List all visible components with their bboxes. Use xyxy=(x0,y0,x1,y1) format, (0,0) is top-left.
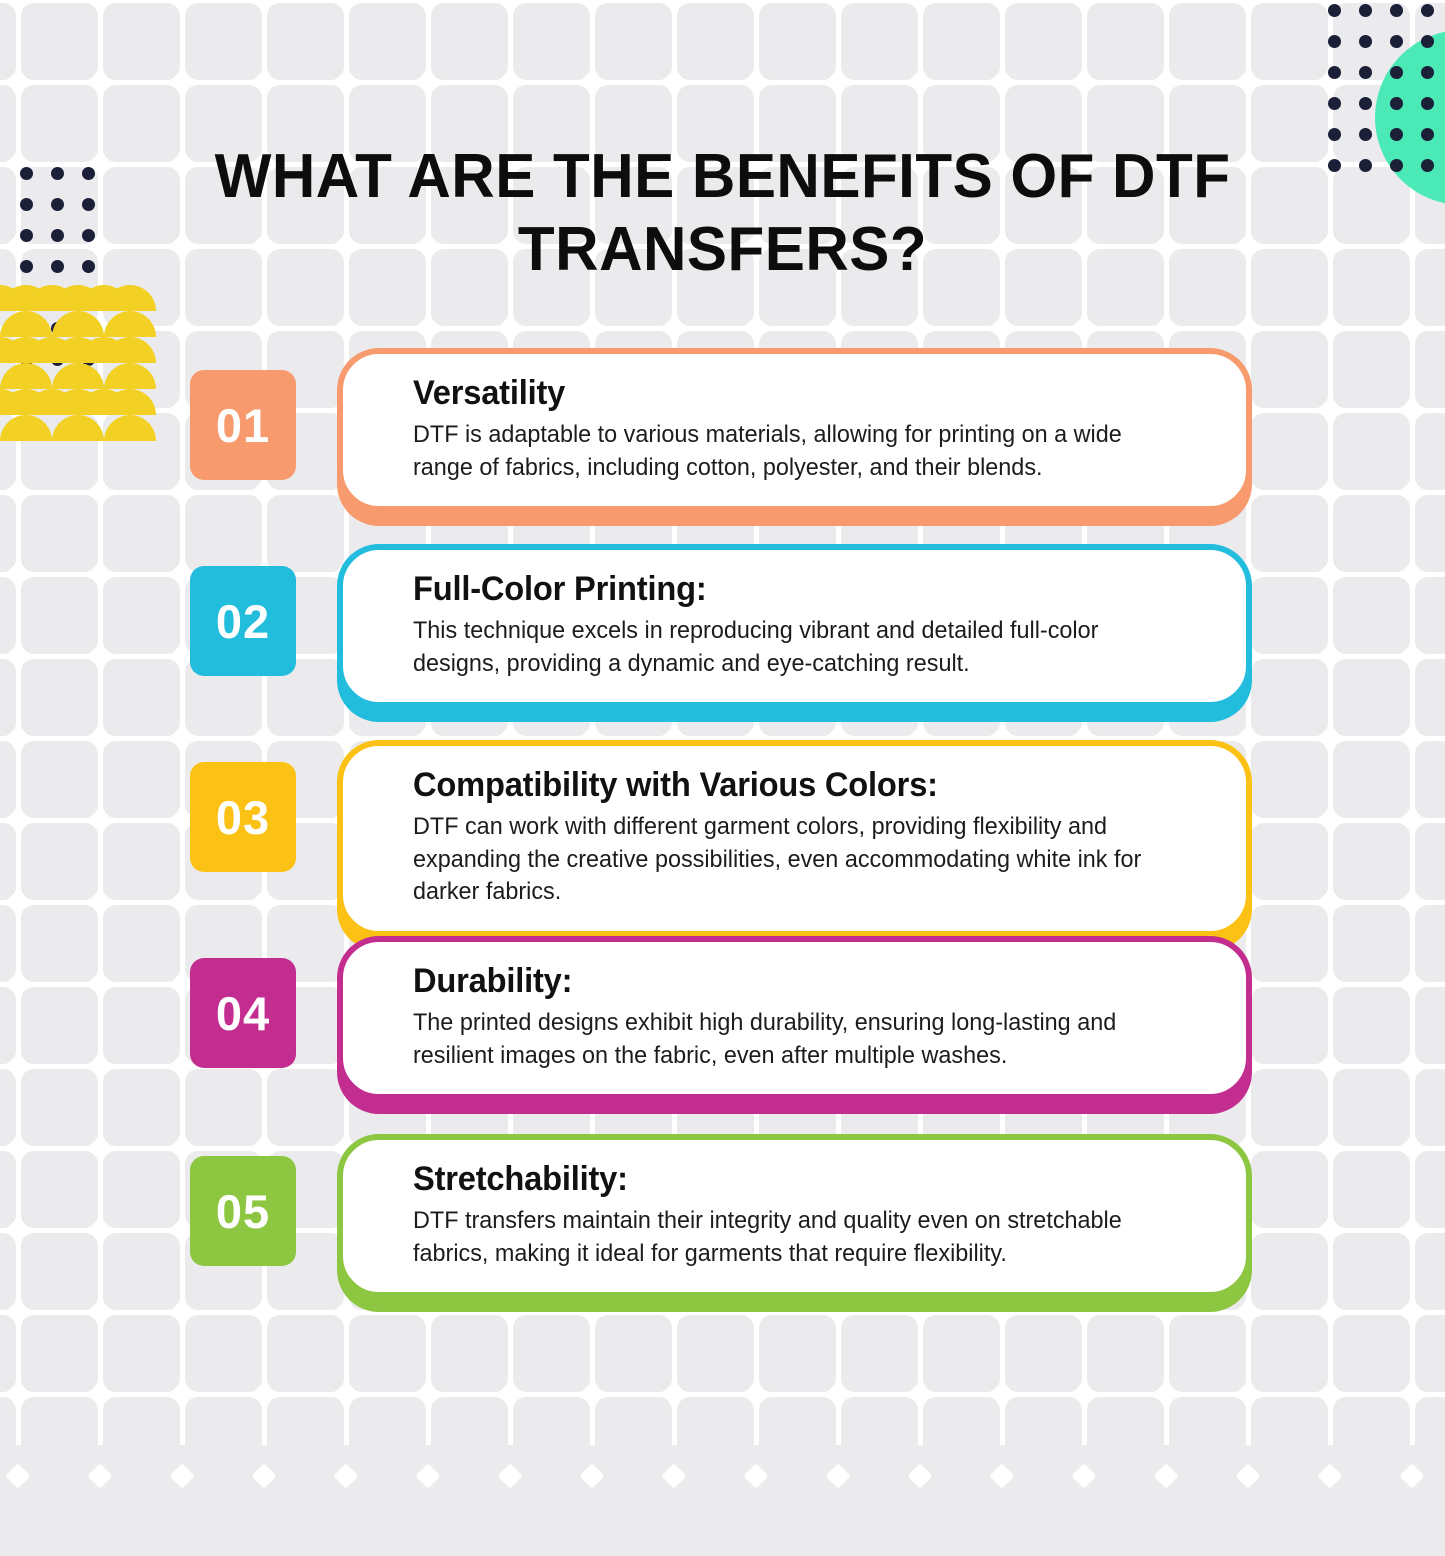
benefit-description: DTF transfers maintain their integrity a… xyxy=(413,1205,1180,1270)
infographic-content: WHAT ARE THE BENEFITS OF DTF TRANSFERS? … xyxy=(0,0,1445,1445)
benefit-title: Stretchability: xyxy=(413,1160,1184,1199)
benefit-card: Stretchability:DTF transfers maintain th… xyxy=(337,1134,1252,1298)
benefit-card: Durability:The printed designs exhibit h… xyxy=(337,936,1252,1100)
benefit-row: 03Compatibility with Various Colors:DTF … xyxy=(0,762,1445,958)
benefit-description: The printed designs exhibit high durabil… xyxy=(413,1007,1180,1072)
card-surface: Stretchability:DTF transfers maintain th… xyxy=(337,1134,1252,1298)
benefit-number-badge: 02 xyxy=(190,566,296,676)
benefit-description: DTF is adaptable to various materials, a… xyxy=(413,419,1180,484)
benefit-row: 04Durability:The printed designs exhibit… xyxy=(0,958,1445,1154)
benefit-title: Durability: xyxy=(413,962,1184,1001)
card-surface: Compatibility with Various Colors:DTF ca… xyxy=(337,740,1252,937)
benefit-description: DTF can work with different garment colo… xyxy=(413,811,1180,909)
benefit-card: VersatilityDTF is adaptable to various m… xyxy=(337,348,1252,512)
benefit-row: 02Full-Color Printing:This technique exc… xyxy=(0,566,1445,762)
benefit-number-badge: 01 xyxy=(190,370,296,480)
benefit-card: Compatibility with Various Colors:DTF ca… xyxy=(337,740,1252,937)
page-title: WHAT ARE THE BENEFITS OF DTF TRANSFERS? xyxy=(191,140,1253,286)
benefit-number-badge: 05 xyxy=(190,1156,296,1266)
benefit-card: Full-Color Printing:This technique excel… xyxy=(337,544,1252,708)
card-surface: Full-Color Printing:This technique excel… xyxy=(337,544,1252,708)
benefit-row: 01VersatilityDTF is adaptable to various… xyxy=(0,370,1445,566)
benefit-title: Versatility xyxy=(413,374,1184,413)
benefit-row: 05Stretchability:DTF transfers maintain … xyxy=(0,1156,1445,1352)
benefit-number-badge: 04 xyxy=(190,958,296,1068)
benefit-title: Full-Color Printing: xyxy=(413,570,1184,609)
card-surface: Durability:The printed designs exhibit h… xyxy=(337,936,1252,1100)
benefit-title: Compatibility with Various Colors: xyxy=(413,766,1184,805)
card-surface: VersatilityDTF is adaptable to various m… xyxy=(337,348,1252,512)
benefit-description: This technique excels in reproducing vib… xyxy=(413,615,1180,680)
benefit-number-badge: 03 xyxy=(190,762,296,872)
